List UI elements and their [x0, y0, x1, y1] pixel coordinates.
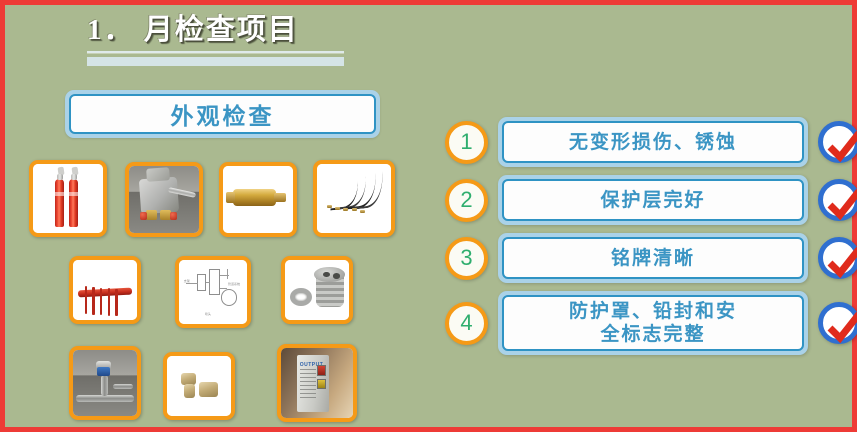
thumbnail-red-manifold-pipe[interactable] [69, 256, 141, 324]
item-number-3: 3 [460, 245, 472, 271]
slide-canvas: 1． 月检查项目 外观检查 [0, 0, 857, 432]
photo-schematic-drawing: 支架 管道系统 喷头 [179, 260, 247, 324]
drawing-label-0: 支架 [184, 279, 190, 283]
thumbnail-valve-assembly[interactable] [125, 162, 203, 237]
photo-valve-assembly [129, 166, 199, 233]
thumbnail-installed-valve-photo[interactable] [69, 346, 141, 420]
thumbnail-control-panel-photo[interactable]: OUTPUT [277, 344, 357, 422]
check-circle-icon[interactable] [818, 237, 857, 279]
photo-nozzle-and-ring [285, 260, 349, 320]
checklist-item-inner-1: 无变形损伤、锈蚀 [502, 121, 804, 163]
section-header-label: 外观检查 [171, 97, 275, 131]
checklist-item-inner-2: 保护层完好 [502, 179, 804, 221]
photo-installed-valve [73, 350, 137, 416]
checklist: 1 无变形损伤、锈蚀 2 保护层完好 [445, 117, 857, 363]
title-block: 1． 月检查项目 [87, 11, 377, 66]
title-rule-thin [87, 51, 344, 53]
section-header-box: 外观检查 [65, 90, 380, 138]
checklist-item-label-1: 无变形损伤、锈蚀 [569, 131, 737, 154]
thumbnail-brass-check-valve[interactable] [219, 162, 297, 237]
item-number-badge-3: 3 [445, 237, 488, 280]
page-title: 1． 月检查项目 [87, 11, 377, 49]
photo-red-manifold-pipe [73, 260, 137, 320]
checklist-row: 2 保护层完好 [445, 175, 857, 225]
checklist-item-box-3[interactable]: 铭牌清晰 [498, 233, 808, 283]
checklist-item-inner-3: 铭牌清晰 [502, 237, 804, 279]
thumbnail-schematic-drawing[interactable]: 支架 管道系统 喷头 [175, 256, 251, 328]
checklist-item-label-3: 铭牌清晰 [611, 247, 695, 270]
checklist-item-box-4[interactable]: 防护罩、铅封和安 全标志完整 [498, 291, 808, 355]
item-number-1: 1 [460, 129, 472, 155]
item-number-badge-1: 1 [445, 121, 488, 164]
photo-brass-nuts [167, 356, 231, 416]
checklist-item-box-2[interactable]: 保护层完好 [498, 175, 808, 225]
thumbnail-flexible-hoses[interactable] [313, 160, 395, 237]
checklist-item-box-1[interactable]: 无变形损伤、锈蚀 [498, 117, 808, 167]
check-circle-icon[interactable] [818, 121, 857, 163]
photo-brass-check-valve [223, 166, 293, 233]
item-number-2: 2 [460, 187, 472, 213]
photo-control-panel: OUTPUT [281, 348, 353, 418]
drawing-label-1: 管道系统 [228, 282, 240, 286]
section-header-inner: 外观检查 [69, 94, 376, 134]
checklist-item-label-4: 防护罩、铅封和安 全标志完整 [569, 300, 737, 346]
checklist-row: 4 防护罩、铅封和安 全标志完整 [445, 291, 857, 355]
item-number-4: 4 [460, 310, 472, 336]
item-number-badge-4: 4 [445, 302, 488, 345]
title-rule-thick [87, 57, 344, 66]
photo-flexible-hoses [317, 164, 391, 233]
checklist-row: 1 无变形损伤、锈蚀 [445, 117, 857, 167]
thumbnail-brass-nuts[interactable] [163, 352, 235, 420]
photo-gas-cylinders [33, 164, 103, 233]
check-circle-icon[interactable] [818, 302, 857, 344]
checklist-row: 3 铭牌清晰 [445, 233, 857, 283]
check-circle-icon[interactable] [818, 179, 857, 221]
thumbnail-nozzle-and-ring[interactable] [281, 256, 353, 324]
thumbnail-gas-cylinders[interactable] [29, 160, 107, 237]
checklist-item-inner-4: 防护罩、铅封和安 全标志完整 [502, 295, 804, 351]
item-number-badge-2: 2 [445, 179, 488, 222]
thumbnail-grid: 支架 管道系统 喷头 [29, 160, 429, 430]
checklist-item-label-2: 保护层完好 [600, 189, 705, 212]
drawing-label-2: 喷头 [205, 312, 211, 316]
